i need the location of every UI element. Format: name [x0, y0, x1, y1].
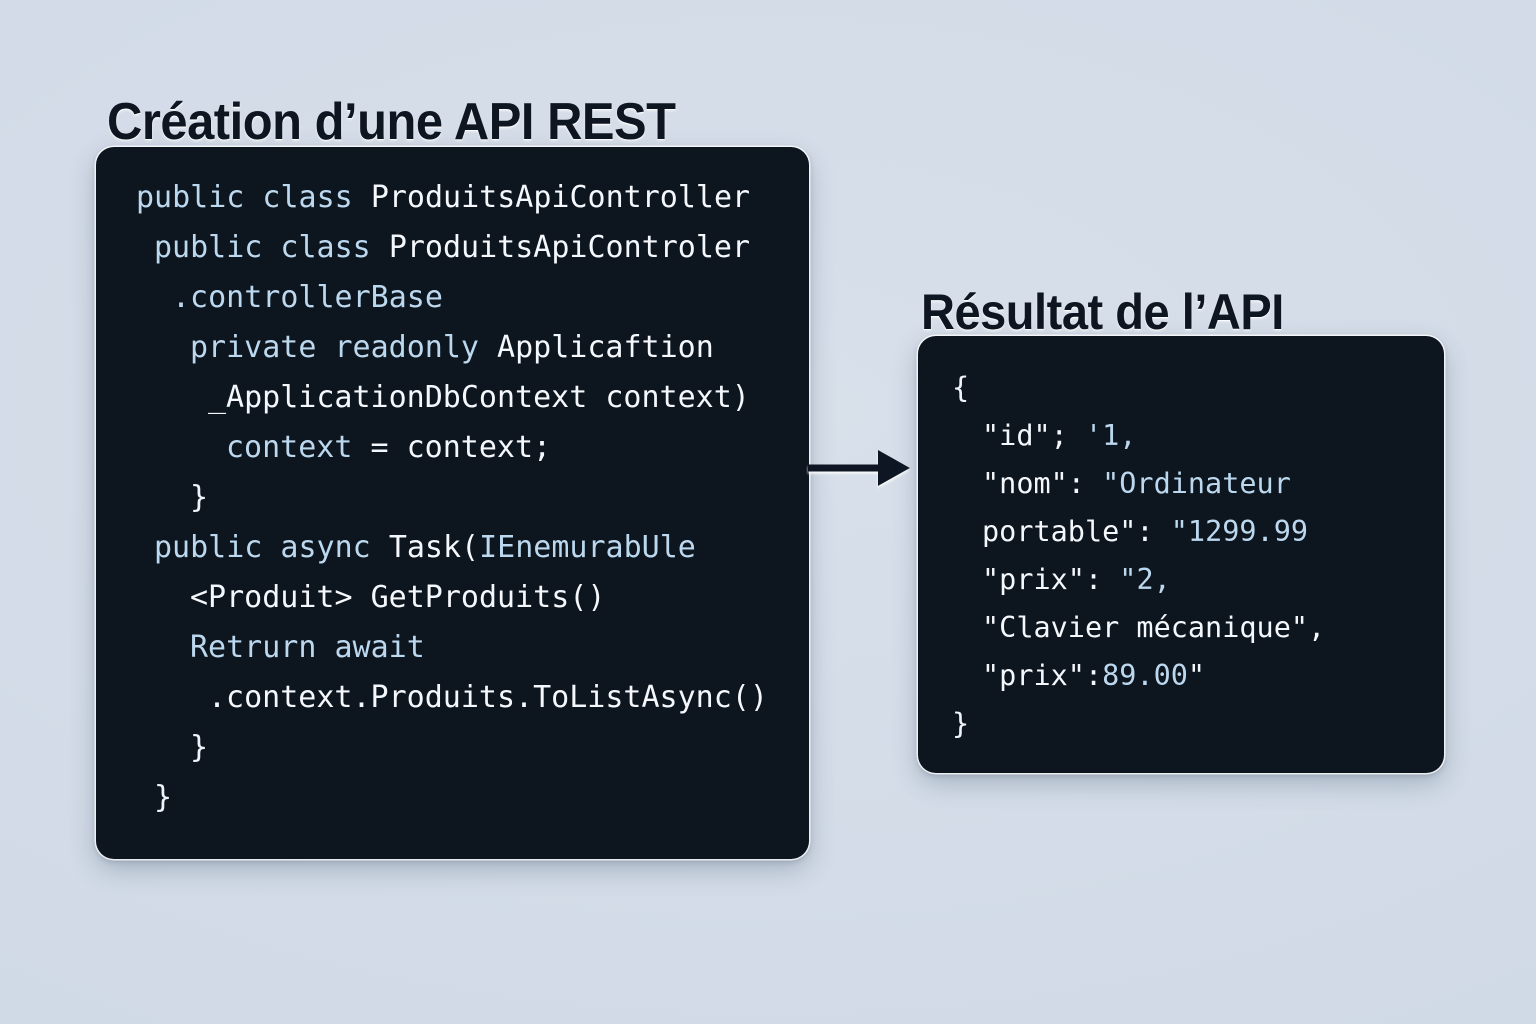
- code-line: "prix":89.00": [952, 652, 1325, 700]
- code-token: ": [1188, 659, 1205, 692]
- code-token: "id";: [982, 419, 1085, 452]
- code-line: "prix": "2,: [952, 556, 1325, 604]
- code-token: "prix":: [982, 563, 1119, 596]
- code-token: Task(: [389, 530, 479, 565]
- code-token: }: [190, 730, 208, 765]
- code-token: public class: [154, 230, 389, 265]
- code-token: ProduitsApiController: [371, 180, 750, 215]
- flow-arrow: [806, 440, 922, 496]
- page-title-left: Création d’une API REST: [107, 91, 676, 153]
- code-line: .context.Produits.ToListAsync(): [96, 673, 809, 723]
- code-block: public class ProduitsApiControllerpublic…: [96, 173, 809, 823]
- code-token: private readonly: [190, 330, 497, 365]
- code-token: context: [226, 430, 352, 465]
- code-line: }: [952, 700, 1325, 748]
- code-token: .controllerBase: [172, 280, 443, 315]
- code-token: }: [952, 707, 969, 740]
- code-line: }: [96, 473, 809, 523]
- code-token: }: [190, 480, 208, 515]
- code-token: "1299.99: [1171, 515, 1308, 548]
- code-line: "id"; '1,: [952, 412, 1325, 460]
- code-line: "Clavier mécanique",: [952, 604, 1325, 652]
- code-panel: public class ProduitsApiControllerpublic…: [96, 147, 809, 859]
- code-token: "Ordinateur: [1102, 467, 1291, 500]
- code-line: _ApplicationDbContext context): [96, 373, 809, 423]
- page-title-right: Résultat de l’API: [921, 282, 1284, 342]
- code-token: "nom":: [982, 467, 1102, 500]
- code-token: '1,: [1085, 419, 1136, 452]
- code-token: "2,: [1119, 563, 1170, 596]
- code-line: public class ProduitsApiControler: [96, 223, 809, 273]
- code-token: IEnemurabUle: [479, 530, 696, 565]
- code-token: {: [952, 371, 969, 404]
- code-line: {: [952, 364, 1325, 412]
- code-line: private readonly Applicaftion: [96, 323, 809, 373]
- code-token: _ApplicationDbContext context): [208, 380, 750, 415]
- code-token: 89.00: [1102, 659, 1188, 692]
- code-line: }: [96, 773, 809, 823]
- code-token: public async: [154, 530, 389, 565]
- json-block: {"id"; '1,"nom": "Ordinateurportable": "…: [952, 364, 1325, 748]
- code-token: Applicaftion: [497, 330, 714, 365]
- code-line: public async Task(IEnemurabUle: [96, 523, 809, 573]
- code-line: Retrurn await: [96, 623, 809, 673]
- code-token: "prix":: [982, 659, 1102, 692]
- code-line: portable": "1299.99: [952, 508, 1325, 556]
- code-line: .controllerBase: [96, 273, 809, 323]
- code-token: = context;: [352, 430, 551, 465]
- code-line: context = context;: [96, 423, 809, 473]
- diagram-canvas: Création d’une API REST public class Pro…: [0, 0, 1536, 1024]
- code-token: <Produit> GetProduits(): [190, 580, 605, 615]
- json-panel: {"id"; '1,"nom": "Ordinateurportable": "…: [918, 336, 1444, 773]
- code-token: portable":: [982, 515, 1171, 548]
- code-line: "nom": "Ordinateur: [952, 460, 1325, 508]
- code-line: }: [96, 723, 809, 773]
- code-token: ProduitsApiControler: [389, 230, 750, 265]
- code-token: "Clavier mécanique",: [982, 611, 1325, 644]
- code-line: public class ProduitsApiController: [96, 173, 809, 223]
- code-token: .context.Produits.ToListAsync(): [208, 680, 768, 715]
- code-token: Retrurn await: [190, 630, 425, 665]
- code-line: <Produit> GetProduits(): [96, 573, 809, 623]
- arrow-head-icon: [878, 450, 910, 486]
- code-token: public class: [136, 180, 371, 215]
- code-token: }: [154, 780, 172, 815]
